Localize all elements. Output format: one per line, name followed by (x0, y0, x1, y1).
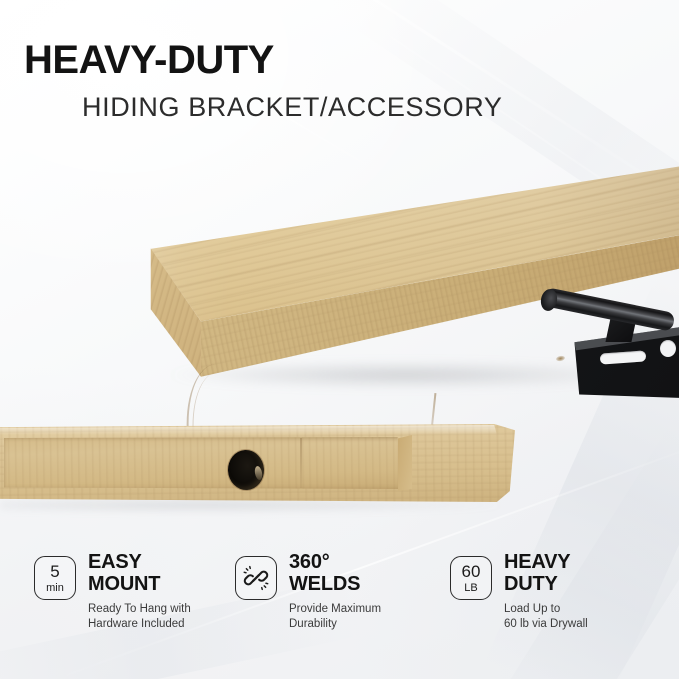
routed-channel-grain (4, 437, 400, 489)
lower-board-top-lip (0, 425, 515, 435)
feature-easy-mount: 5 min EASY MOUNT Ready To Hang with Hard… (0, 550, 230, 660)
feature-desc-line2: Durability (289, 617, 381, 632)
feature-title-line1: HEAVY (504, 552, 588, 574)
infographic-canvas: HEAVY-DUTY HIDING BRACKET/ACCESSORY (0, 0, 679, 679)
feature-desc-line2: Hardware Included (88, 617, 191, 632)
badge-weld-icon (235, 556, 277, 600)
feature-desc-line1: Provide Maximum (289, 602, 381, 617)
feature-text: HEAVY DUTY Load Up to 60 lb via Drywall (504, 550, 588, 633)
bracket-plate-hole (660, 340, 676, 357)
feature-desc-line2: 60 lb via Drywall (504, 617, 588, 632)
feature-text: EASY MOUNT Ready To Hang with Hardware I… (88, 550, 191, 633)
feature-360-welds: 360° WELDS Provide Maximum Durability (230, 550, 450, 660)
badge-number: 5 (50, 563, 59, 580)
shelf-back-channel-photo (0, 424, 520, 508)
badge-unit: LB (464, 583, 477, 594)
routed-channel-seam (300, 438, 302, 488)
feature-title-line2: DUTY (504, 574, 588, 596)
feature-heavy-duty: 60 LB HEAVY DUTY Load Up to 60 lb via Dr… (450, 550, 679, 660)
badge-5-min: 5 min (34, 556, 76, 600)
feature-title-line2: WELDS (289, 574, 381, 596)
routed-channel-end (398, 435, 412, 491)
feature-desc-line1: Load Up to (504, 602, 588, 617)
feature-title-line1: EASY (88, 552, 191, 574)
feature-title-line1: 360° (289, 552, 381, 574)
chain-link-weld-icon (242, 564, 270, 592)
feature-text: 360° WELDS Provide Maximum Durability (289, 550, 381, 633)
feature-title-line2: MOUNT (88, 574, 191, 596)
feature-desc-line1: Ready To Hang with (88, 602, 191, 617)
badge-number: 60 (462, 563, 481, 580)
feature-row: 5 min EASY MOUNT Ready To Hang with Hard… (0, 550, 679, 660)
badge-60-lb: 60 LB (450, 556, 492, 600)
badge-unit: min (46, 583, 64, 594)
